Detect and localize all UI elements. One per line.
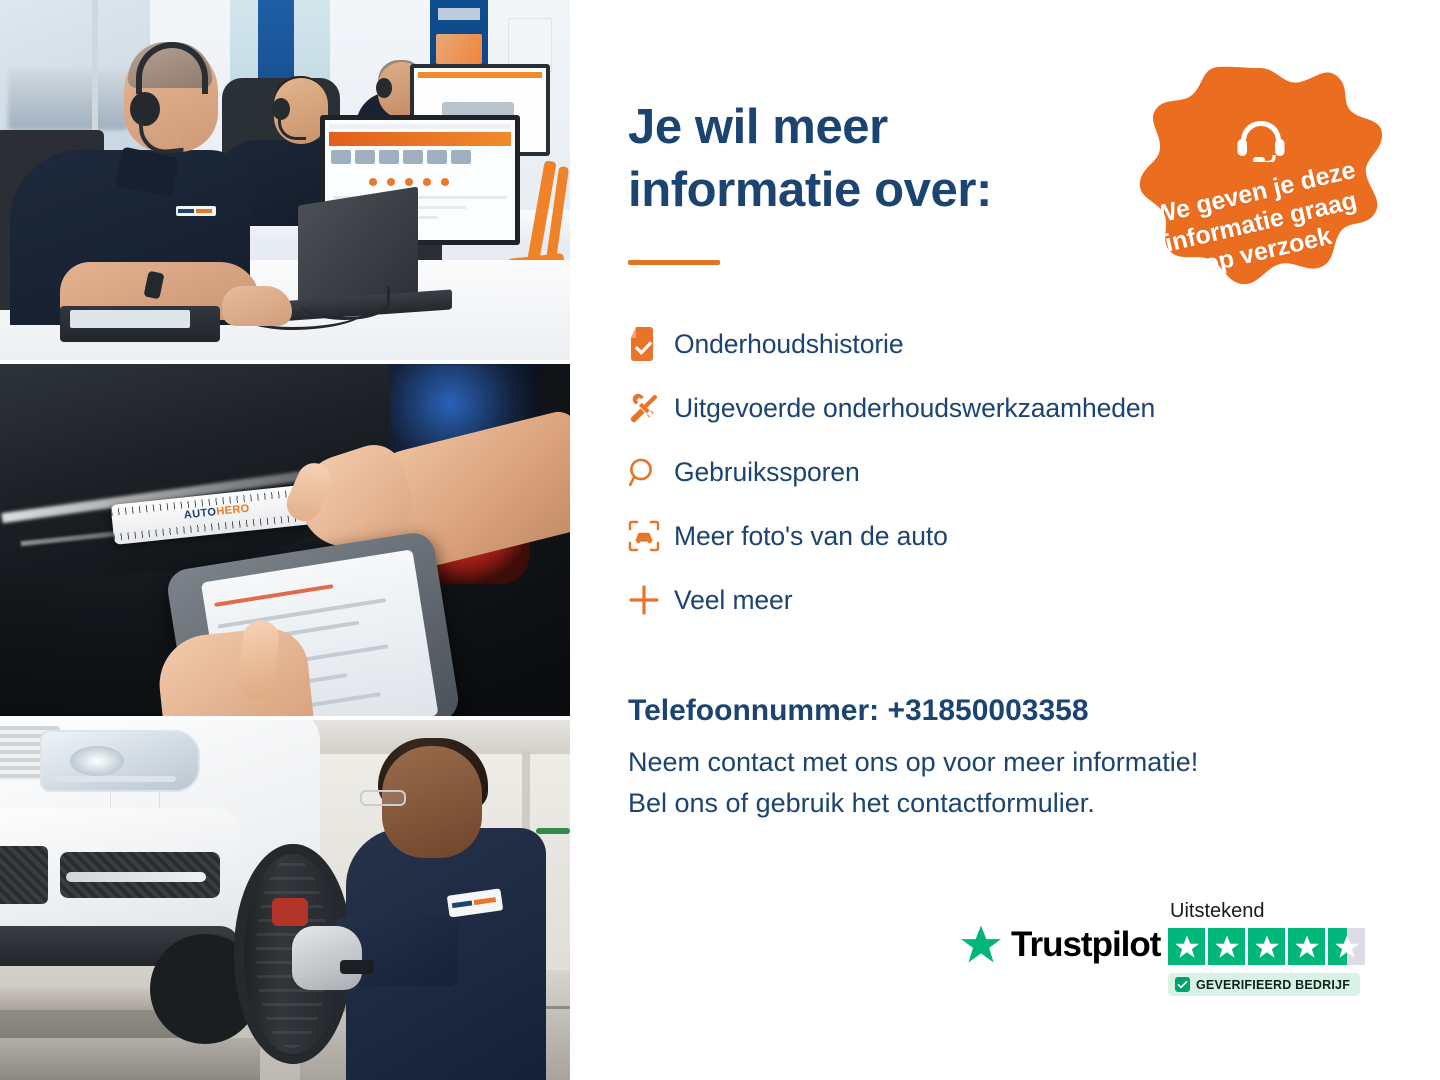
wrench-screwdriver-icon xyxy=(628,392,674,424)
check-shield-icon xyxy=(1175,977,1190,992)
mechanic-glasses xyxy=(360,790,406,806)
verified-company-badge: GEVERIFIEERD BEDRIJF xyxy=(1168,973,1360,996)
trustpilot-wordmark: Trustpilot xyxy=(1011,925,1160,965)
agent-one-hand xyxy=(222,286,292,326)
magnifier-icon xyxy=(628,457,674,488)
feature-label: Onderhoudshistorie xyxy=(674,329,903,360)
car-headlight xyxy=(40,730,200,792)
contact-line-1: Neem contact met ons op voor meer inform… xyxy=(628,742,1388,783)
feature-label: Meer foto's van de auto xyxy=(674,521,948,552)
contact-line-2: Bel ons of gebruik het contactformulier. xyxy=(628,783,1388,824)
feature-label: Veel meer xyxy=(674,585,792,616)
mechanic-work-glove xyxy=(292,926,362,990)
promo-banner: AUTOHERO xyxy=(0,0,1440,1080)
autohero-shirt-logo xyxy=(176,206,216,216)
rating-stars xyxy=(1168,928,1365,965)
red-tool-handle xyxy=(272,898,308,926)
feature-label: Uitgevoerde onderhoudswerkzaamheden xyxy=(674,393,1155,424)
feature-row-onderhoudshistorie: Onderhoudshistorie xyxy=(628,312,1408,376)
tablet-on-desk xyxy=(60,306,220,342)
plus-icon xyxy=(628,584,674,616)
bumper-side-vent xyxy=(0,846,48,904)
photo-inspection-ruler-on-black-car-paint: AUTOHERO xyxy=(0,364,570,716)
headline-line-2: informatie over: xyxy=(628,159,1148,222)
feature-row-meer-fotos: Meer foto's van de auto xyxy=(628,504,1408,568)
photo-call-center-agents-with-headsets xyxy=(0,0,570,360)
document-check-icon xyxy=(628,327,674,361)
headline-line-1: Je wil meer xyxy=(628,96,1148,159)
star-filled-3 xyxy=(1248,928,1285,965)
request-info-badge: We geven je deze informatie graag op ver… xyxy=(1138,66,1383,311)
agent-three-headphone xyxy=(376,78,392,98)
feature-row-veel-meer: Veel meer xyxy=(628,568,1408,632)
license-plate-area xyxy=(110,790,160,810)
car-frame-icon xyxy=(628,520,674,552)
car-lift-platform xyxy=(0,1038,260,1080)
contact-text: Neem contact met ons op voor meer inform… xyxy=(628,742,1388,824)
feature-label: Gebruikssporen xyxy=(674,457,860,488)
rating-label: Uitstekend xyxy=(1170,900,1365,923)
feature-row-gebruikssporen: Gebruikssporen xyxy=(628,440,1408,504)
feature-row-onderhoudswerkzaamheden: Uitgevoerde onderhoudswerkzaamheden xyxy=(628,376,1408,440)
trustpilot-star-icon xyxy=(960,924,1002,966)
trustpilot-widget[interactable]: Trustpilot Uitstekend xyxy=(960,900,1380,1010)
mechanic-wristband xyxy=(340,960,374,974)
page-title: Je wil meer informatie over: xyxy=(628,96,1148,221)
verified-label: GEVERIFIEERD BEDRIJF xyxy=(1196,978,1350,992)
headset-icon xyxy=(1236,118,1286,162)
photo-column: AUTOHERO xyxy=(0,0,570,1080)
cable-two xyxy=(300,286,390,320)
star-filled-1 xyxy=(1168,928,1205,965)
star-filled-4 xyxy=(1288,928,1325,965)
green-hose xyxy=(536,828,570,834)
title-underline-rule xyxy=(628,260,720,265)
chrome-trim xyxy=(66,872,206,882)
phone-number-label: Telefoonnummer: +31850003358 xyxy=(628,694,1089,728)
trustpilot-logo[interactable]: Trustpilot xyxy=(960,924,1160,966)
content-panel: Je wil meer informatie over: We geven je… xyxy=(570,0,1440,1080)
photo-mechanic-fitting-tire-on-white-car xyxy=(0,720,570,1080)
star-filled-2 xyxy=(1208,928,1245,965)
star-half-5 xyxy=(1328,928,1365,965)
feature-list: Onderhoudshistorie Uitgevoerde onderhoud… xyxy=(628,312,1408,632)
trustpilot-rating-block: Uitstekend xyxy=(1168,900,1365,997)
